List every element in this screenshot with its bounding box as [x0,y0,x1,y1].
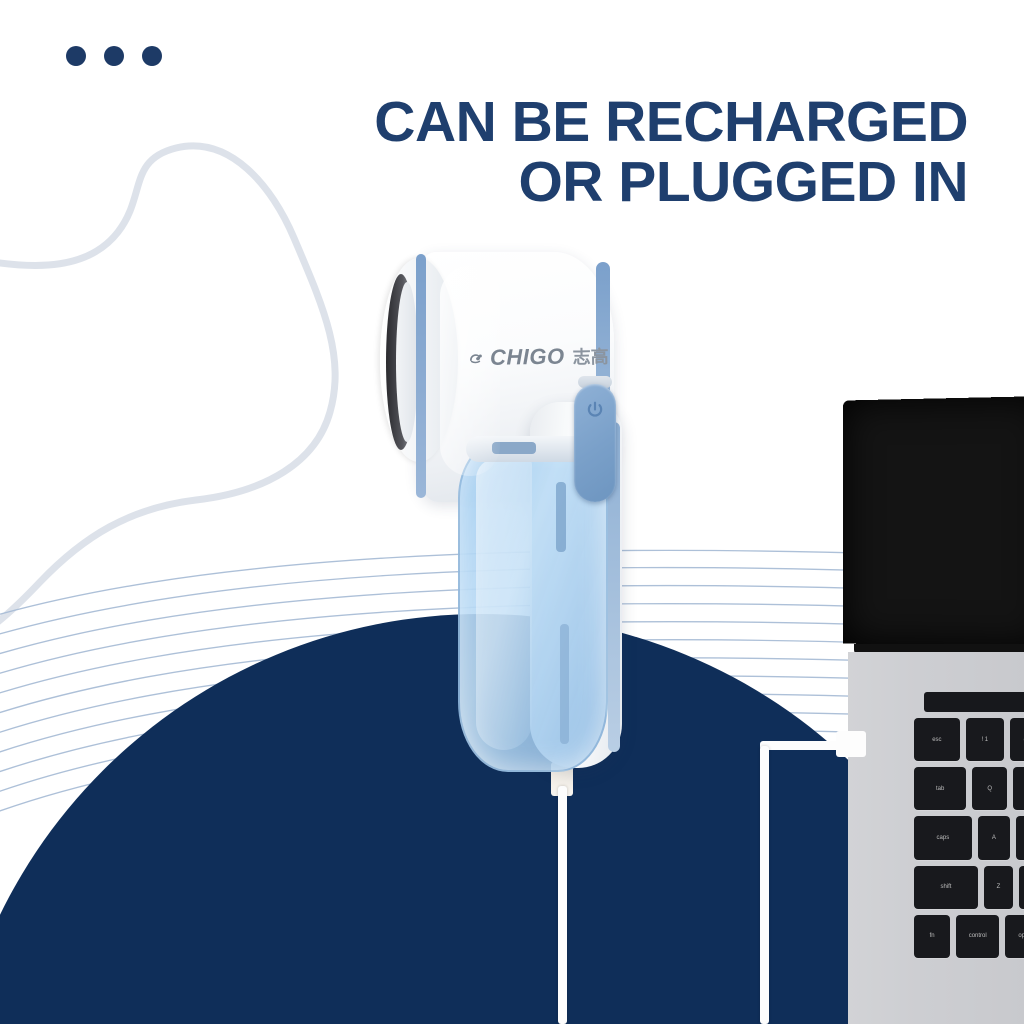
key-esc: esc [914,718,960,761]
three-dot-accent [66,46,162,66]
keyboard-row: caps A S [914,816,1024,859]
power-icon [585,400,605,420]
page-title: CAN BE RECHARGED OR PLUGGED IN [328,92,968,213]
key-w: W [1013,767,1024,810]
key-control: control [956,915,999,958]
brand-logo: CHIGO 志高 [468,343,609,371]
body-accent-strip-left [416,254,426,498]
brand-cjk: 志高 [572,343,608,370]
touch-bar [924,692,1024,712]
promo-canvas: CAN BE RECHARGED OR PLUGGED IN esc ! 1 @… [0,0,1024,1024]
chamber-rail-lower [560,624,569,744]
usb-cable-to-laptop-horizontal [760,741,848,750]
dot-icon [104,46,124,66]
usb-connector [836,731,866,757]
key-tab: tab [914,767,966,810]
key-a: A [978,816,1010,859]
headline-line-2: OR PLUGGED IN [328,152,968,212]
power-button[interactable] [574,384,616,502]
keyboard-row: tab Q W [914,767,1024,810]
dot-icon [66,46,86,66]
brand-wordmark: CHIGO [490,344,565,371]
key-1: ! 1 [966,718,1004,761]
chamber-rail [556,482,566,552]
dot-icon [142,46,162,66]
chigo-logo-mark-icon [468,349,485,366]
key-caps: caps [914,816,972,859]
keyboard-row: fn control option [914,915,1024,958]
key-q: Q [972,767,1007,810]
usb-cable-to-laptop-vertical [760,746,769,1024]
key-shift: shift [914,866,978,909]
chamber-highlight [476,458,532,750]
lint-remover-fabric-shaver: CHIGO 志高 [352,248,640,800]
keyboard-row: esc ! 1 @ 2 [914,718,1024,761]
key-fn: fn [914,915,950,958]
laptop-keyboard: esc ! 1 @ 2 tab Q W caps A S shift Z X f… [914,718,1024,958]
key-2: @ 2 [1010,718,1024,761]
usb-cable-from-device [558,786,567,1024]
key-s: S [1016,816,1024,859]
macbook-pro: esc ! 1 @ 2 tab Q W caps A S shift Z X f… [818,396,1024,1024]
headline-line-1: CAN BE RECHARGED [374,90,968,154]
keyboard-row: shift Z X [914,866,1024,909]
key-option: option [1005,915,1024,958]
laptop-screen-off [843,396,1024,648]
shaver-head-inner [396,282,418,442]
blob-outline-path [0,146,335,652]
key-x: X [1019,866,1024,909]
chamber-notch [492,442,536,454]
key-z: Z [984,866,1013,909]
